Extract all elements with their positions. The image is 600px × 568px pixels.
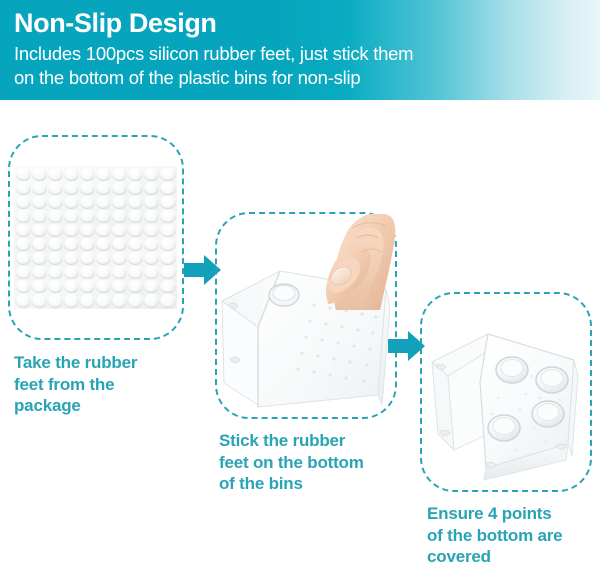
rubber-foot-dot <box>32 294 47 307</box>
step-2-caption: Stick the rubber feet on the bottom of t… <box>219 430 409 495</box>
rubber-foot-dot <box>128 224 143 237</box>
rubber-foot-dot <box>64 182 79 195</box>
rubber-foot-dot <box>16 210 31 223</box>
page-title: Non-Slip Design <box>14 7 600 40</box>
rubber-foot-dot <box>112 168 127 181</box>
rubber-foot-dot <box>96 252 111 265</box>
rubber-foot-dot <box>80 266 95 279</box>
rubber-foot-dot <box>48 238 63 251</box>
rubber-foot-dot <box>112 210 127 223</box>
rubber-foot-dot <box>80 252 95 265</box>
rubber-foot-dot <box>80 294 95 307</box>
header-subtitle: Includes 100pcs silicon rubber feet, jus… <box>14 42 600 90</box>
rubber-foot-dot <box>96 238 111 251</box>
rubber-foot-dot <box>80 238 95 251</box>
rubber-foot-dot <box>112 196 127 209</box>
rubber-foot-dot <box>96 182 111 195</box>
rubber-foot-dot <box>16 252 31 265</box>
rubber-foot-dot <box>128 210 143 223</box>
rubber-foot-dot <box>32 168 47 181</box>
rubber-foot-dot <box>96 294 111 307</box>
rubber-foot-dot <box>160 210 175 223</box>
rubber-foot-dot <box>64 280 79 293</box>
rubber-foot-dot <box>96 196 111 209</box>
rubber-foot-dot <box>96 168 111 181</box>
rubber-foot-dot <box>112 182 127 195</box>
rubber-foot-dot <box>64 238 79 251</box>
rubber-foot-dot <box>128 266 143 279</box>
rubber-foot-dot <box>96 210 111 223</box>
rubber-foot-dot <box>160 224 175 237</box>
rubber-foot-dot <box>144 294 159 307</box>
applied-rubber-foot <box>269 284 299 306</box>
rubber-foot-dot <box>112 266 127 279</box>
rubber-foot-dot <box>16 168 31 181</box>
rubber-foot-dot <box>112 238 127 251</box>
rubber-foot-dot <box>64 294 79 307</box>
rubber-foot-dot <box>128 294 143 307</box>
rubber-foot-dot <box>144 280 159 293</box>
rubber-foot-dot <box>160 266 175 279</box>
rubber-foot-dot <box>128 280 143 293</box>
rubber-foot-dot <box>80 210 95 223</box>
rubber-foot-dot <box>112 224 127 237</box>
rubber-foot-dot <box>16 224 31 237</box>
rubber-foot-dot <box>48 182 63 195</box>
rubber-foot-dot <box>48 280 63 293</box>
rubber-foot-dot <box>112 252 127 265</box>
step-1-caption: Take the rubber feet from the package <box>14 352 194 417</box>
header-banner: Non-Slip Design Includes 100pcs silicon … <box>0 0 600 100</box>
rubber-foot-dot <box>160 238 175 251</box>
rubber-foot-dot <box>64 266 79 279</box>
rubber-foot-dot <box>128 252 143 265</box>
rubber-foot-dot <box>80 168 95 181</box>
rubber-foot-dot <box>48 252 63 265</box>
rubber-foot-dot <box>112 280 127 293</box>
rubber-foot-dot <box>128 196 143 209</box>
rubber-foot-dot <box>64 168 79 181</box>
rubber-foot-dot <box>96 266 111 279</box>
rubber-feet-sheet-image <box>14 166 177 309</box>
rubber-foot-dot <box>48 294 63 307</box>
rubber-foot-dot <box>16 280 31 293</box>
step-3-caption: Ensure 4 points of the bottom are covere… <box>427 503 600 568</box>
rubber-foot-dot <box>32 280 47 293</box>
rubber-foot-dot <box>32 238 47 251</box>
rubber-foot-dot <box>144 224 159 237</box>
rubber-foot-dot <box>16 238 31 251</box>
rubber-foot-dot <box>160 168 175 181</box>
rubber-foot-dot <box>80 280 95 293</box>
header-subtitle-line-1: Includes 100pcs silicon rubber feet, jus… <box>14 42 600 66</box>
rubber-foot-dot <box>144 252 159 265</box>
rubber-foot-dot <box>144 238 159 251</box>
hand-icon <box>300 214 396 310</box>
rubber-foot-dot <box>16 266 31 279</box>
rubber-foot-dot <box>64 224 79 237</box>
rubber-foot-dot <box>32 252 47 265</box>
rubber-foot-dot <box>16 294 31 307</box>
rubber-foot-dot <box>128 238 143 251</box>
rubber-foot-dot <box>16 182 31 195</box>
rubber-foot-dot <box>144 168 159 181</box>
rubber-foot-dot <box>32 266 47 279</box>
rubber-foot-dot <box>64 210 79 223</box>
rubber-foot-dot <box>144 266 159 279</box>
rubber-feet-grid <box>14 166 177 309</box>
rubber-foot-dot <box>160 196 175 209</box>
rubber-foot-dot <box>96 280 111 293</box>
rubber-foot-dot <box>48 210 63 223</box>
rubber-foot-dot <box>48 168 63 181</box>
rubber-foot-dot <box>128 168 143 181</box>
rubber-foot-dot <box>80 196 95 209</box>
rubber-foot-dot <box>32 210 47 223</box>
rubber-foot-dot <box>48 196 63 209</box>
rubber-foot-dot <box>16 196 31 209</box>
rubber-foot-dot <box>144 210 159 223</box>
rubber-foot-dot <box>160 252 175 265</box>
rubber-foot-dot <box>144 196 159 209</box>
rubber-foot-dot <box>80 224 95 237</box>
rubber-foot-dot <box>96 224 111 237</box>
bin-with-four-feet-image <box>428 318 588 480</box>
header-subtitle-line-2: on the bottom of the plastic bins for no… <box>14 66 600 90</box>
rubber-foot-dot <box>112 294 127 307</box>
rubber-foot-dot <box>32 196 47 209</box>
rubber-foot-dot <box>48 224 63 237</box>
rubber-foot-dot <box>160 294 175 307</box>
rubber-foot-dot <box>64 252 79 265</box>
rubber-foot-dot <box>80 182 95 195</box>
rubber-foot-dot <box>128 182 143 195</box>
rubber-foot-dot <box>32 182 47 195</box>
rubber-foot-dot <box>32 224 47 237</box>
rubber-foot-dot <box>160 182 175 195</box>
rubber-foot-dot <box>160 280 175 293</box>
rubber-foot-dot <box>48 266 63 279</box>
rubber-foot-dot <box>144 182 159 195</box>
rubber-foot-dot <box>64 196 79 209</box>
